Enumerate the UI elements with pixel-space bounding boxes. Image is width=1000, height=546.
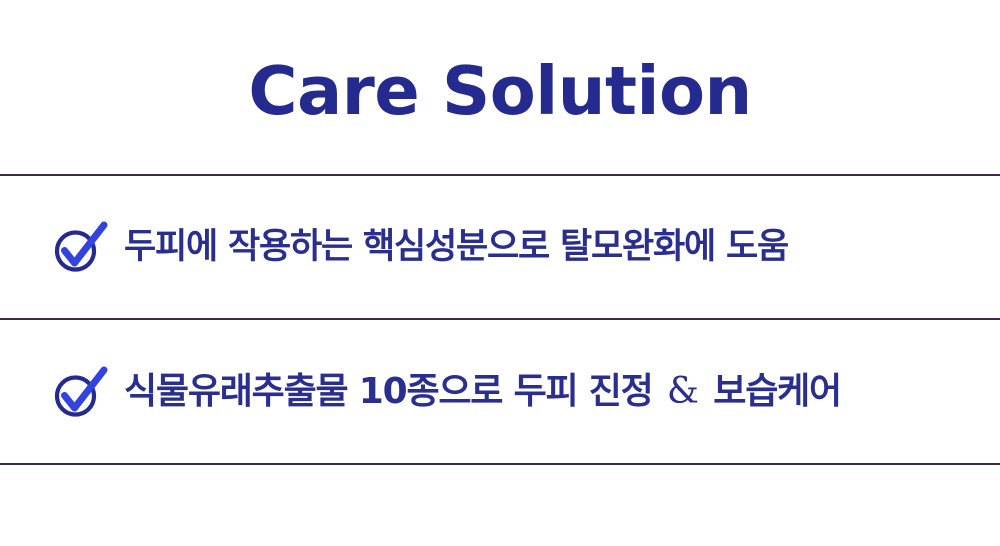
- ampersand-glyph: &: [664, 371, 702, 412]
- feature-item-2: 식물유래추출물 10종으로 두피 진정 & 보습케어: [0, 320, 1000, 463]
- check-circle-icon: [52, 364, 110, 420]
- feature-label-1: 두피에 작용하는 핵심성분으로 탈모완화에 도움: [124, 228, 1000, 267]
- page-title: Care Solution: [248, 58, 751, 125]
- check-circle-icon: [52, 219, 110, 275]
- care-solution-banner: Care Solution 두피에 작용하는 핵심성분으로 탈모완화에 도움 식…: [0, 0, 1000, 546]
- divider-bottom: [0, 463, 1000, 465]
- feature-label-2-part-1: 식물유래추출물 10종으로 두피 진정: [124, 371, 664, 412]
- feature-label-2-part-2: 보습케어: [702, 371, 841, 412]
- feature-item-1: 두피에 작용하는 핵심성분으로 탈모완화에 도움: [0, 176, 1000, 318]
- feature-label-2: 식물유래추출물 10종으로 두피 진정 & 보습케어: [124, 372, 1000, 412]
- title-section: Care Solution: [0, 0, 1000, 175]
